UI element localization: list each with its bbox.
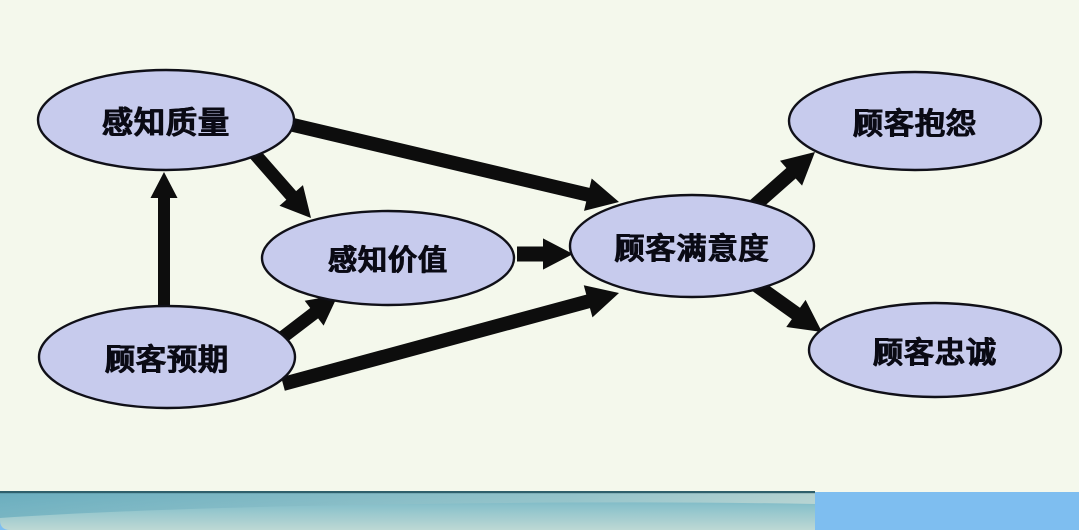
node-ellipse-perceived-value[interactable] [262,211,514,305]
footer-decoration-bar [0,484,1079,530]
node-ellipse-customer-loyalty[interactable] [809,303,1061,397]
arrow-expectation-to-quality [150,172,177,306]
arrow-expectation-to-value [279,295,338,342]
arrow-quality-to-satisfaction [287,117,619,211]
node-ellipse-customer-expectation[interactable] [39,306,295,408]
arrow-value-to-satisfaction [517,238,573,269]
node-ellipse-perceived-quality[interactable] [38,70,294,170]
nodes-layer [38,70,1061,408]
arrow-quality-to-value [249,149,311,218]
node-ellipse-customer-complaint[interactable] [789,72,1041,170]
slide-canvas: 感知质量感知价值顾客满意度顾客预期顾客抱怨顾客忠诚 [0,0,1079,530]
node-ellipse-customer-satisfaction[interactable] [570,195,814,297]
diagram-svg [0,0,1079,530]
